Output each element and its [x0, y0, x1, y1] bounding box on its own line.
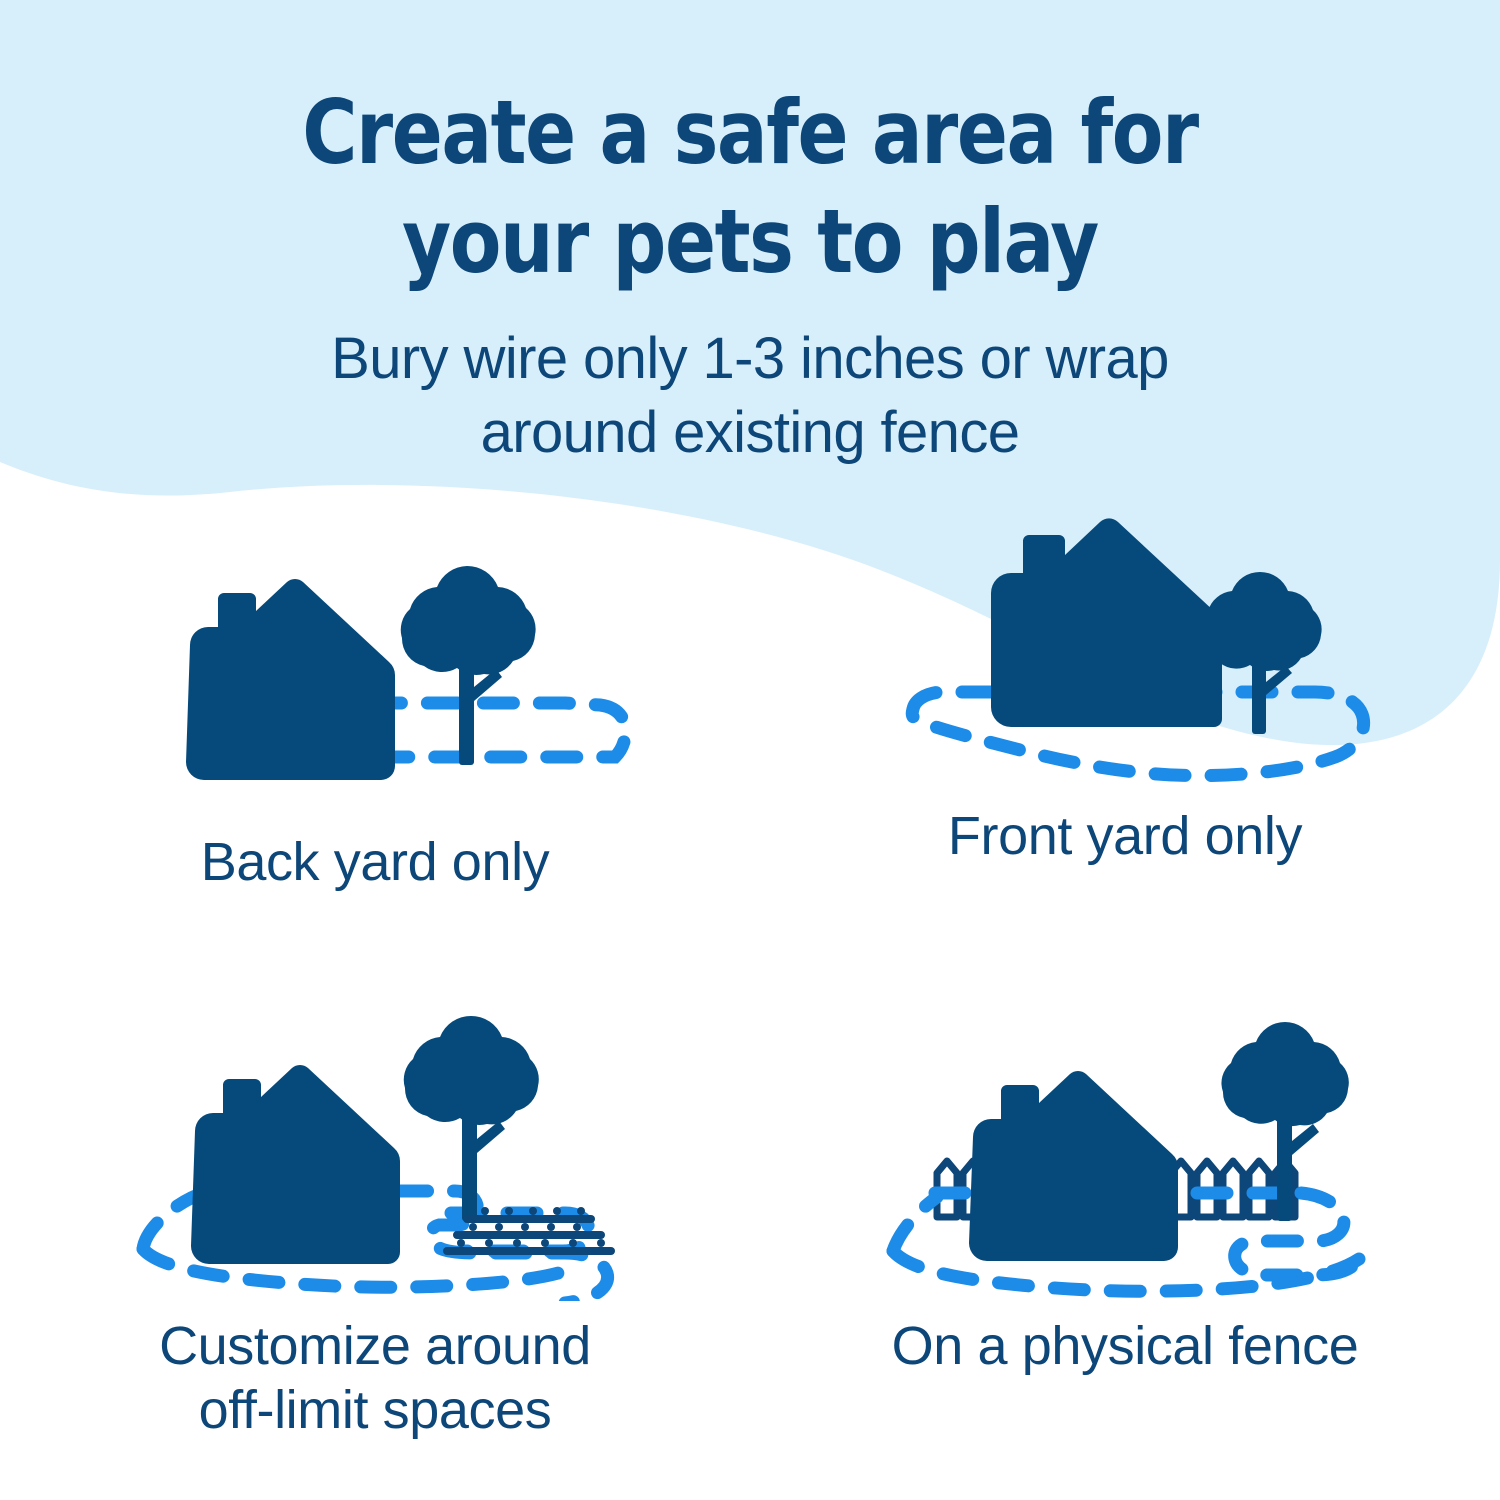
house-tree-back-yard-boundary-icon: [95, 537, 655, 827]
house-tree-picket-fence-boundary-icon: [845, 1001, 1405, 1301]
house-tree-garden-exclusion-boundary-icon: [95, 1001, 655, 1301]
card-front-yard-only: Front yard only: [750, 505, 1500, 975]
feature-grid: Back yard only Front yard on: [0, 505, 1500, 1500]
card-caption: Customize around off-limit spaces: [159, 1315, 591, 1442]
card-back-yard-only: Back yard only: [0, 505, 750, 975]
card-customize-around-off-limit-spaces: Customize around off-limit spaces: [0, 975, 750, 1445]
page-subtitle: Bury wire only 1-3 inches or wrap around…: [0, 296, 1500, 470]
card-caption: Front yard only: [948, 805, 1302, 869]
page-title: Create a safe area for your pets to play: [38, 0, 1463, 296]
card-caption: Back yard only: [201, 831, 550, 895]
card-caption: On a physical fence: [892, 1315, 1359, 1379]
card-on-a-physical-fence: On a physical fence: [750, 975, 1500, 1445]
header: Create a safe area for your pets to play…: [0, 0, 1500, 471]
house-tree-front-yard-boundary-icon: [845, 511, 1405, 801]
infographic-canvas: Create a safe area for your pets to play…: [0, 0, 1500, 1500]
